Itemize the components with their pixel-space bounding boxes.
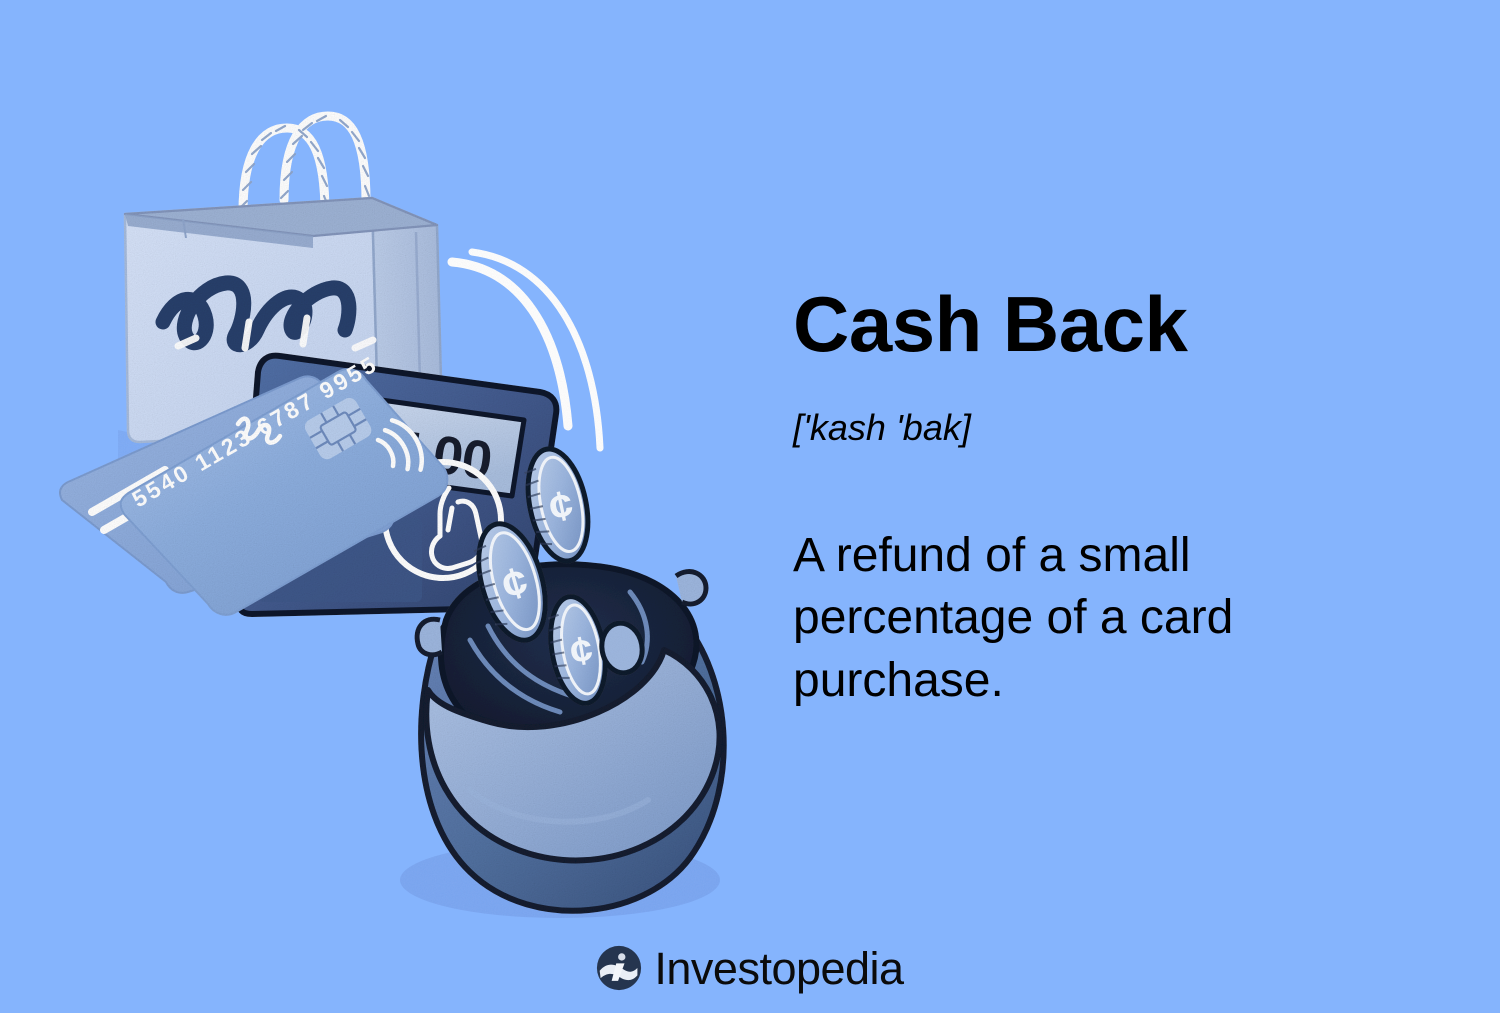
investopedia-logo-icon <box>596 945 642 991</box>
cash-back-definition-card: $125.00 <box>0 0 1500 1013</box>
definition-text: A refund of a small percentage of a card… <box>793 449 1293 712</box>
page-title: Cash Back <box>793 285 1353 363</box>
cash-back-illustration: $125.00 <box>0 0 790 940</box>
investopedia-logo: Investopedia <box>0 945 1500 991</box>
definition-text-column: Cash Back ['kash 'bak] A refund of a sma… <box>793 285 1353 712</box>
investopedia-wordmark: Investopedia <box>654 946 903 991</box>
pronunciation: ['kash 'bak] <box>793 363 1353 449</box>
